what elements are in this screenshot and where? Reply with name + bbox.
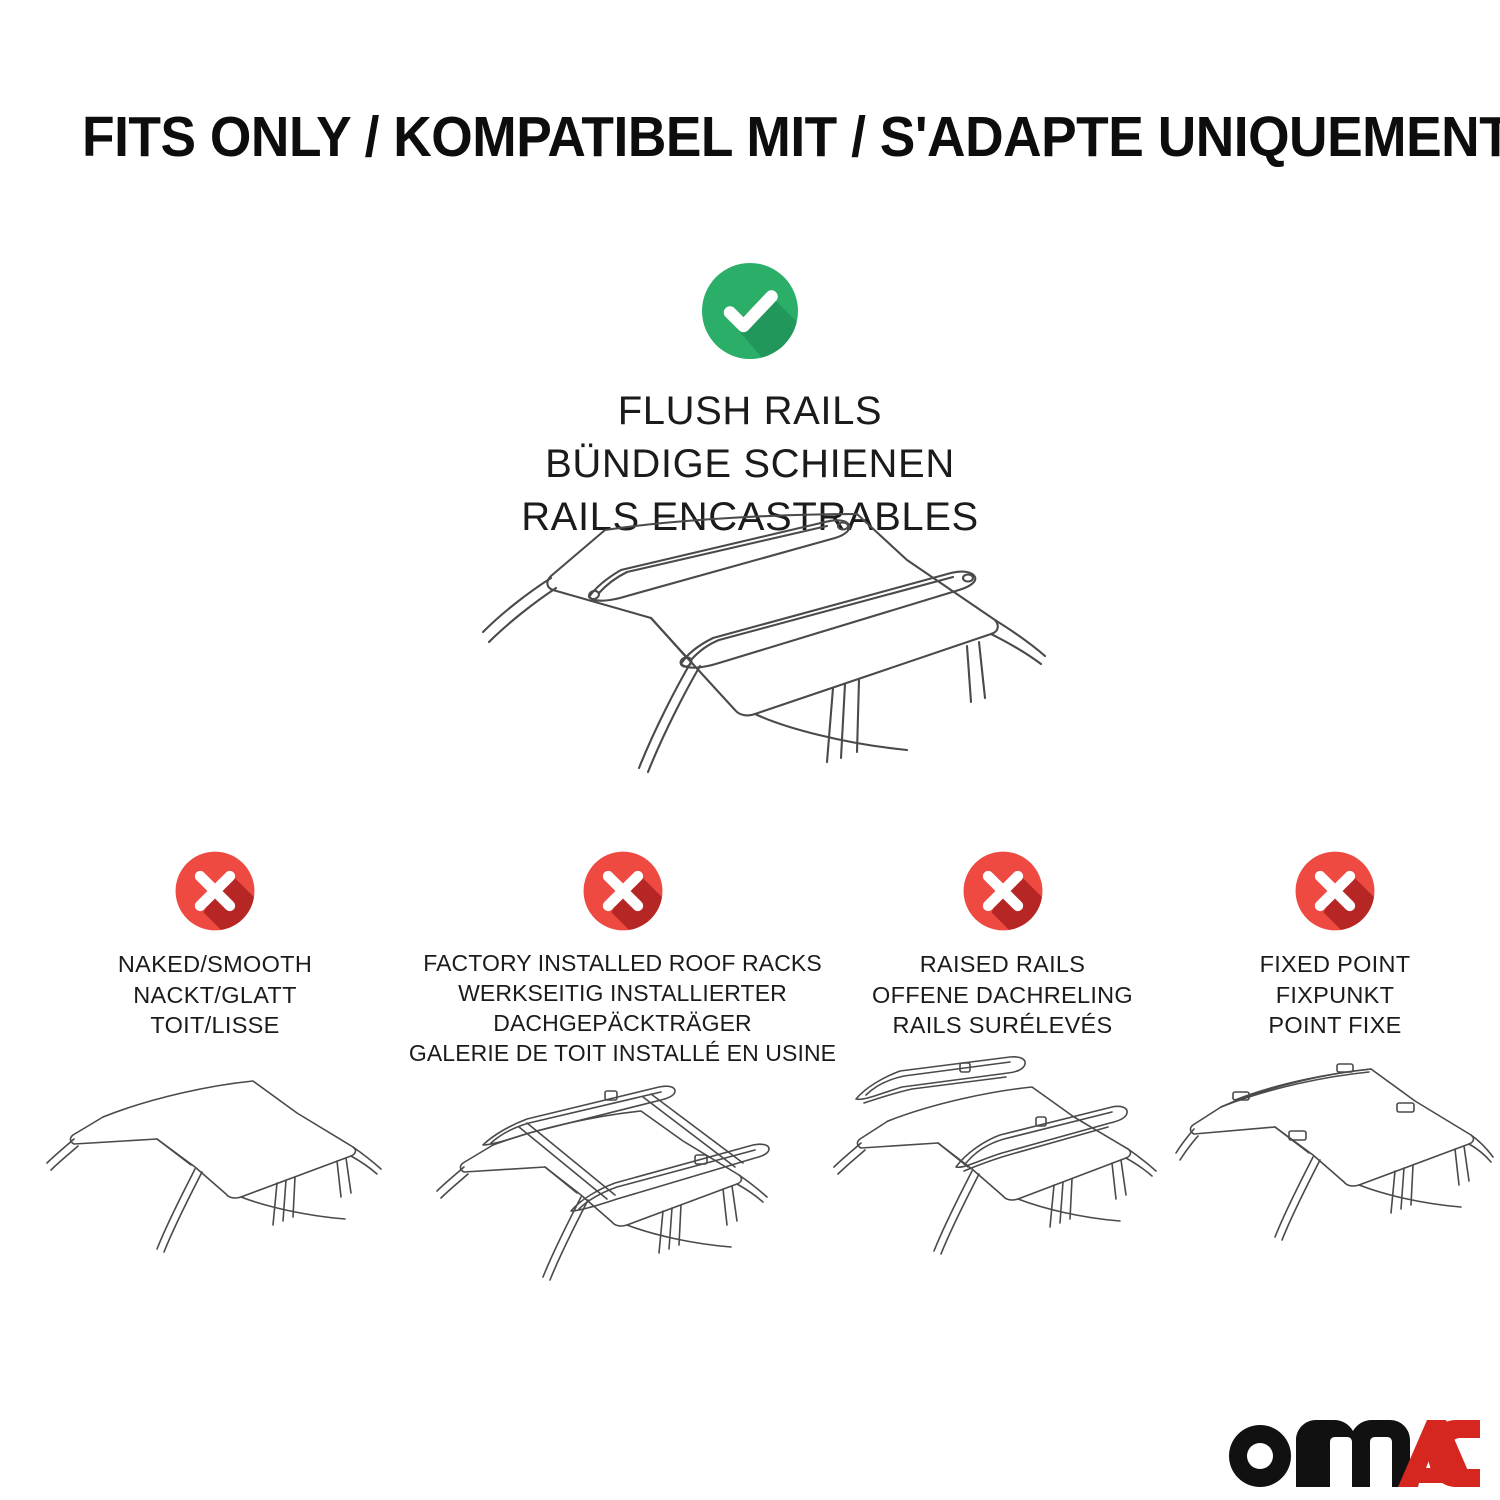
caption-line-en: NAKED/SMOOTH	[45, 949, 385, 980]
caption-line-fr: TOIT/LISSE	[45, 1010, 385, 1041]
incompatible-caption: FACTORY INSTALLED ROOF RACKS WERKSEITIG …	[395, 949, 850, 1069]
omac-logo	[1222, 1412, 1480, 1490]
car-roof-with-flush-rails-illustration	[455, 500, 1065, 800]
compatible-line-en: FLUSH RAILS	[0, 385, 1500, 438]
incompatible-item-naked-smooth: NAKED/SMOOTH NACKT/GLATT TOIT/LISSE	[45, 845, 385, 1280]
incompatible-caption: NAKED/SMOOTH NACKT/GLATT TOIT/LISSE	[45, 949, 385, 1041]
incompatible-item-raised-rails: RAISED RAILS OFFENE DACHRELING RAILS SUR…	[820, 845, 1185, 1280]
logo-letter-m	[1296, 1420, 1410, 1487]
car-roof-with-factory-rack-illustration	[423, 1083, 823, 1303]
car-roof-bare-illustration	[45, 1055, 385, 1275]
incompatible-caption: FIXED POINT FIXPUNKT POINT FIXE	[1175, 949, 1495, 1041]
compatible-line-de: BÜNDIGE SCHIENEN	[0, 438, 1500, 491]
x-circle-icon	[169, 845, 261, 937]
x-circle-icon	[957, 845, 1049, 937]
caption-line-de: NACKT/GLATT	[45, 980, 385, 1011]
caption-line-de-2: DACHGEPÄCKTRÄGER	[395, 1009, 850, 1039]
page-title: FITS ONLY / KOMPATIBEL MIT / S'ADAPTE UN…	[82, 108, 1335, 168]
incompatible-item-fixed-point: FIXED POINT FIXPUNKT POINT FIXE	[1175, 845, 1495, 1280]
x-circle-icon	[577, 845, 669, 937]
incompatible-item-factory-rack: FACTORY INSTALLED ROOF RACKS WERKSEITIG …	[395, 845, 850, 1308]
caption-line-en: FIXED POINT	[1175, 949, 1495, 980]
caption-line-de: FIXPUNKT	[1175, 980, 1495, 1011]
logo-letter-o	[1229, 1425, 1291, 1487]
incompatible-section: NAKED/SMOOTH NACKT/GLATT TOIT/LISSE	[0, 845, 1500, 1445]
caption-line-fr: RAILS SURÉLEVÉS	[820, 1010, 1185, 1041]
caption-line-en: FACTORY INSTALLED ROOF RACKS	[395, 949, 850, 979]
caption-line-de: OFFENE DACHRELING	[820, 980, 1185, 1011]
check-circle-icon	[694, 255, 806, 367]
caption-line-fr: GALERIE DE TOIT INSTALLÉ EN USINE	[395, 1039, 850, 1069]
caption-line-fr: POINT FIXE	[1175, 1010, 1495, 1041]
car-roof-with-raised-rails-illustration	[820, 1055, 1190, 1275]
x-circle-icon	[1289, 845, 1381, 937]
incompatible-caption: RAISED RAILS OFFENE DACHRELING RAILS SUR…	[820, 949, 1185, 1041]
caption-line-de-1: WERKSEITIG INSTALLIERTER	[395, 979, 850, 1009]
infographic-page: FITS ONLY / KOMPATIBEL MIT / S'ADAPTE UN…	[0, 0, 1500, 1500]
caption-line-en: RAISED RAILS	[820, 949, 1185, 980]
car-roof-with-fixed-points-illustration	[1175, 1055, 1495, 1275]
